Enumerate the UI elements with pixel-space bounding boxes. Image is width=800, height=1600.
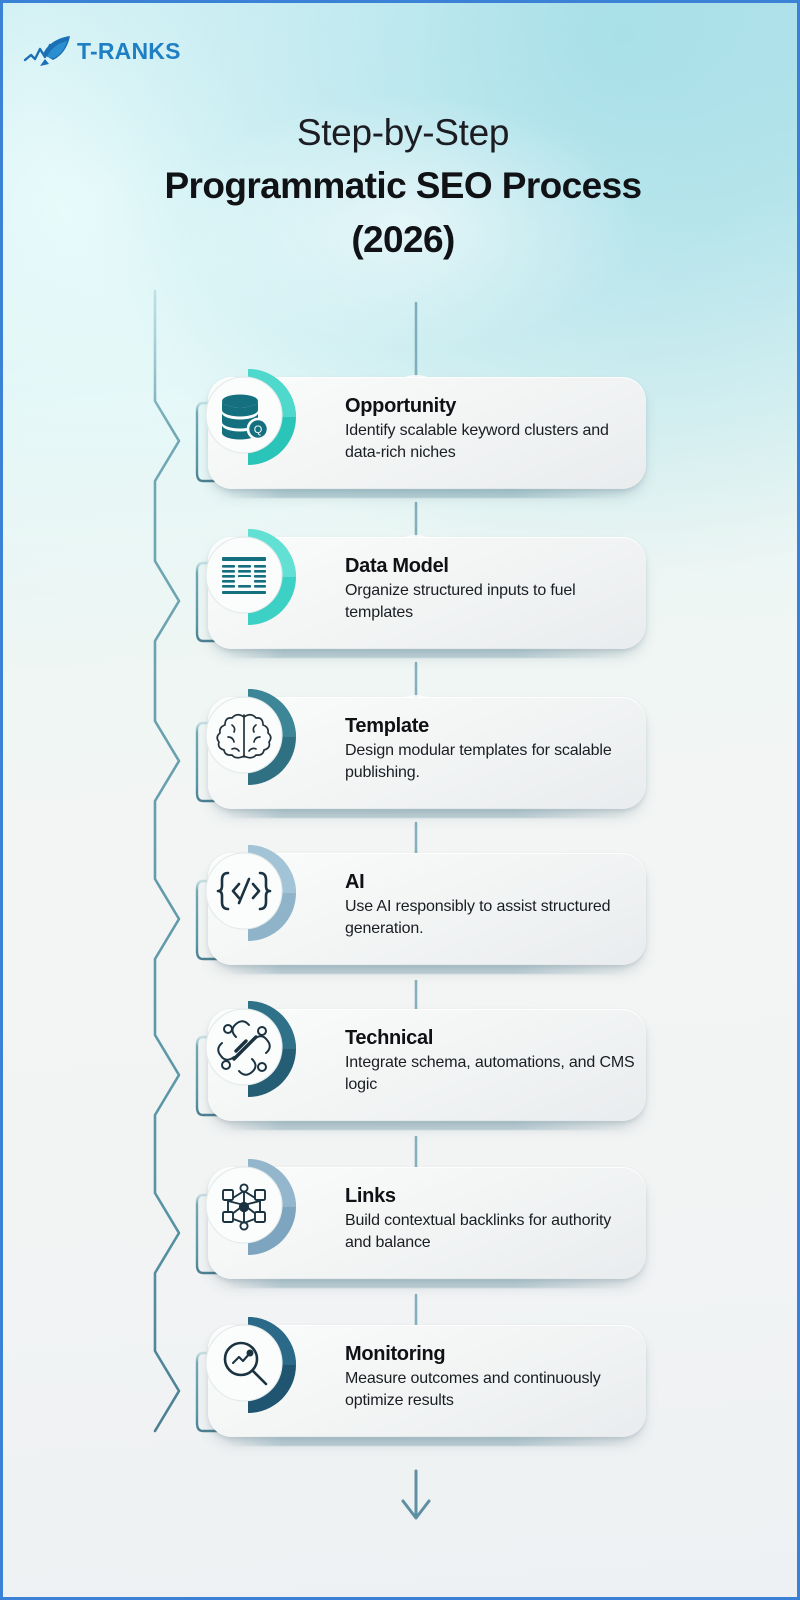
infographic-poster: T-RANKS Step-by-Step Programmatic SEO Pr… xyxy=(0,0,800,1600)
step-text-block: Data Model Organize structured inputs to… xyxy=(345,553,637,624)
step-icon-medallion xyxy=(192,837,304,949)
step-icon-medallion xyxy=(192,1151,304,1263)
step-description: Identify scalable keyword clusters and d… xyxy=(345,420,637,464)
step-card-template[interactable]: Template Design modular templates for sc… xyxy=(208,697,646,809)
step-title: Monitoring xyxy=(345,1341,637,1367)
step-description: Measure outcomes and continuously optimi… xyxy=(345,1368,637,1412)
step-card-data-model[interactable]: Data Model Organize structured inputs to… xyxy=(208,537,646,649)
step-icon-medallion: Q xyxy=(192,361,304,473)
step-title: Template xyxy=(345,713,637,739)
card-foot-accent xyxy=(226,1279,628,1288)
step-text-block: Opportunity Identify scalable keyword cl… xyxy=(345,393,637,464)
step-description: Build contextual backlinks for authority… xyxy=(345,1210,637,1254)
title-line-1: Step-by-Step xyxy=(63,107,743,159)
svg-text:Q: Q xyxy=(254,424,263,436)
step-icon-medallion xyxy=(192,993,304,1105)
step-title: AI xyxy=(345,869,637,895)
step-card-technical[interactable]: Technical Integrate schema, automations,… xyxy=(208,1009,646,1121)
rocket-chart-icon xyxy=(23,33,75,69)
step-description: Organize structured inputs to fuel templ… xyxy=(345,580,637,624)
step-card-opportunity[interactable]: Q Opportunity Identify scalable keyword … xyxy=(208,377,646,489)
step-description: Integrate schema, automations, and CMS l… xyxy=(345,1052,637,1096)
step-text-block: Monitoring Measure outcomes and continuo… xyxy=(345,1341,637,1412)
card-foot-accent xyxy=(226,489,628,498)
poster-title-block: Step-by-Step Programmatic SEO Process (2… xyxy=(63,107,743,267)
background-watermark xyxy=(333,278,663,358)
card-foot-accent xyxy=(226,809,628,818)
step-title: Links xyxy=(345,1183,637,1209)
step-description: Use AI responsibly to assist structured … xyxy=(345,896,637,940)
card-foot-accent xyxy=(226,1437,628,1446)
step-card-ai[interactable]: AI Use AI responsibly to assist structur… xyxy=(208,853,646,965)
step-title: Opportunity xyxy=(345,393,637,419)
title-line-3: (2026) xyxy=(63,213,743,267)
brand-name: T-RANKS xyxy=(77,40,181,63)
step-description: Design modular templates for scalable pu… xyxy=(345,740,637,784)
step-text-block: AI Use AI responsibly to assist structur… xyxy=(345,869,637,940)
arrow-down-icon xyxy=(403,1471,429,1518)
step-text-block: Technical Integrate schema, automations,… xyxy=(345,1025,637,1096)
card-foot-accent xyxy=(226,649,628,658)
step-title: Data Model xyxy=(345,553,637,579)
step-title: Technical xyxy=(345,1025,637,1051)
card-foot-accent xyxy=(226,965,628,974)
title-line-2: Programmatic SEO Process xyxy=(63,159,743,213)
step-icon-medallion xyxy=(192,521,304,633)
card-foot-accent xyxy=(226,1121,628,1130)
step-icon-medallion xyxy=(192,1309,304,1421)
brand-logo[interactable]: T-RANKS xyxy=(23,33,181,69)
step-card-links[interactable]: Links Build contextual backlinks for aut… xyxy=(208,1167,646,1279)
step-text-block: Template Design modular templates for sc… xyxy=(345,713,637,784)
step-text-block: Links Build contextual backlinks for aut… xyxy=(345,1183,637,1254)
step-card-monitoring[interactable]: Monitoring Measure outcomes and continuo… xyxy=(208,1325,646,1437)
step-icon-medallion xyxy=(192,681,304,793)
